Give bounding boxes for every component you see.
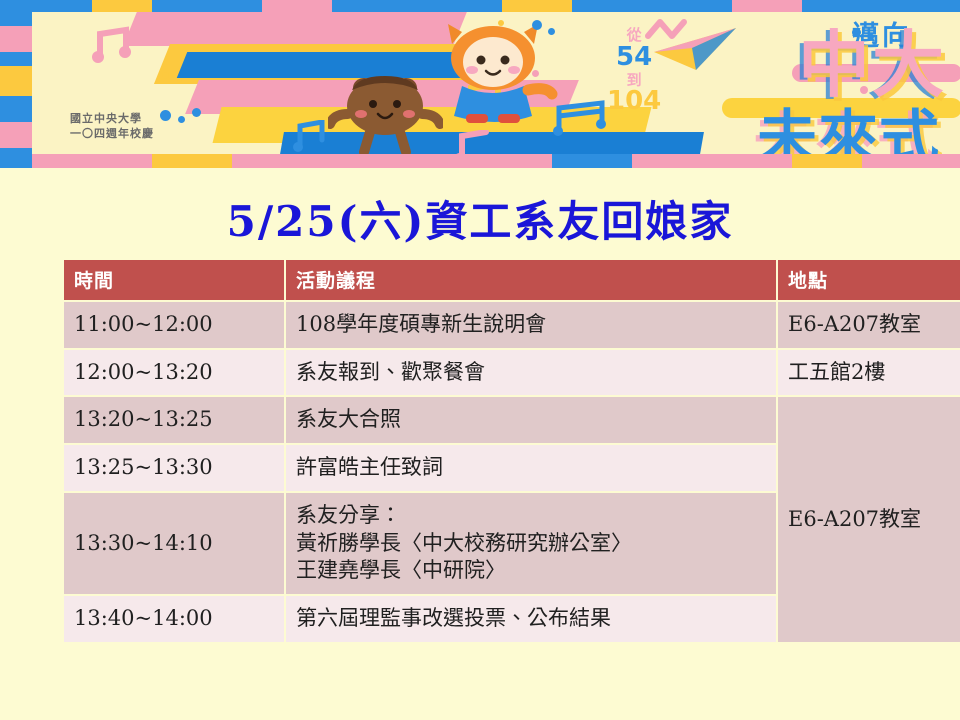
cell-time: 12:00~13:20 <box>64 350 284 396</box>
decorative-dot <box>192 108 201 117</box>
cell-agenda: 108學年度碩專新生說明會 <box>286 302 776 348</box>
banner-from-value: 54 <box>607 44 661 70</box>
event-banner: 邁向 中大 未來式 從 54 到 104 國立中央大學 一〇四週年校慶 <box>0 0 960 168</box>
table-row: 13:20~13:25 系友大合照 E6-A207教室 <box>64 397 960 443</box>
cell-agenda: 系友大合照 <box>286 397 776 443</box>
column-header-time: 時間 <box>64 260 284 300</box>
cell-time: 13:25~13:30 <box>64 445 284 491</box>
mascot-brown-character <box>328 74 443 154</box>
page-title: 5/25(六)資工系友回娘家 <box>0 188 960 249</box>
decorative-dot <box>162 72 169 79</box>
cell-time: 11:00~12:00 <box>64 302 284 348</box>
column-header-place: 地點 <box>778 260 960 300</box>
decorative-dot <box>532 70 539 77</box>
banner-left-stripes <box>0 0 32 168</box>
cell-time: 13:30~14:10 <box>64 493 284 594</box>
banner-to-value: 104 <box>607 88 661 114</box>
mascot-orange-character <box>432 24 562 124</box>
decorative-ribbon <box>123 12 471 46</box>
banner-top-stripes <box>32 0 960 12</box>
banner-title-main: 中大 <box>798 32 946 98</box>
agenda-table: 時間 活動議程 地點 11:00~12:00 108學年度碩專新生說明會 E6-… <box>62 258 960 644</box>
table-row: 12:00~13:20 系友報到、歡聚餐會 工五館2樓 <box>64 350 960 396</box>
cell-time: 13:20~13:25 <box>64 397 284 443</box>
cell-place: 工五館2樓 <box>778 350 960 396</box>
music-note-icon <box>292 120 332 154</box>
music-note-icon <box>452 130 498 154</box>
banner-artwork: 邁向 中大 未來式 從 54 到 104 國立中央大學 一〇四週年校慶 <box>32 12 960 154</box>
cell-place-merged: E6-A207教室 <box>778 397 960 641</box>
decorative-dot <box>177 78 182 83</box>
banner-from-label: 從 <box>607 28 661 43</box>
decorative-dot <box>548 28 555 35</box>
cell-agenda: 第六屆理監事改選投票、公布結果 <box>286 596 776 642</box>
table-row: 11:00~12:00 108學年度碩專新生說明會 E6-A207教室 <box>64 302 960 348</box>
banner-credit-line1: 國立中央大學 <box>70 112 154 127</box>
cell-place: E6-A207教室 <box>778 302 960 348</box>
cell-agenda: 系友分享： 黃祈勝學長〈中大校務研究辦公室〉 王建堯學長〈中研院〉 <box>286 493 776 594</box>
table-header-row: 時間 活動議程 地點 <box>64 260 960 300</box>
music-note-icon <box>92 26 138 66</box>
banner-from-to-block: 從 54 到 104 <box>607 28 661 114</box>
decorative-dot <box>498 20 504 26</box>
cell-time: 13:40~14:00 <box>64 596 284 642</box>
cell-agenda: 許富皓主任致詞 <box>286 445 776 491</box>
banner-title-bottom: 未來式 <box>757 90 940 154</box>
cell-agenda: 系友報到、歡聚餐會 <box>286 350 776 396</box>
decorative-dot <box>160 110 171 121</box>
banner-credit: 國立中央大學 一〇四週年校慶 <box>70 112 154 142</box>
decorative-dot <box>532 20 542 30</box>
column-header-agenda: 活動議程 <box>286 260 776 300</box>
decorative-dot <box>178 116 185 123</box>
banner-credit-line2: 一〇四週年校慶 <box>70 127 154 142</box>
agenda-table-wrapper: 時間 活動議程 地點 11:00~12:00 108學年度碩專新生說明會 E6-… <box>62 258 916 644</box>
banner-bottom-stripes <box>32 154 960 168</box>
